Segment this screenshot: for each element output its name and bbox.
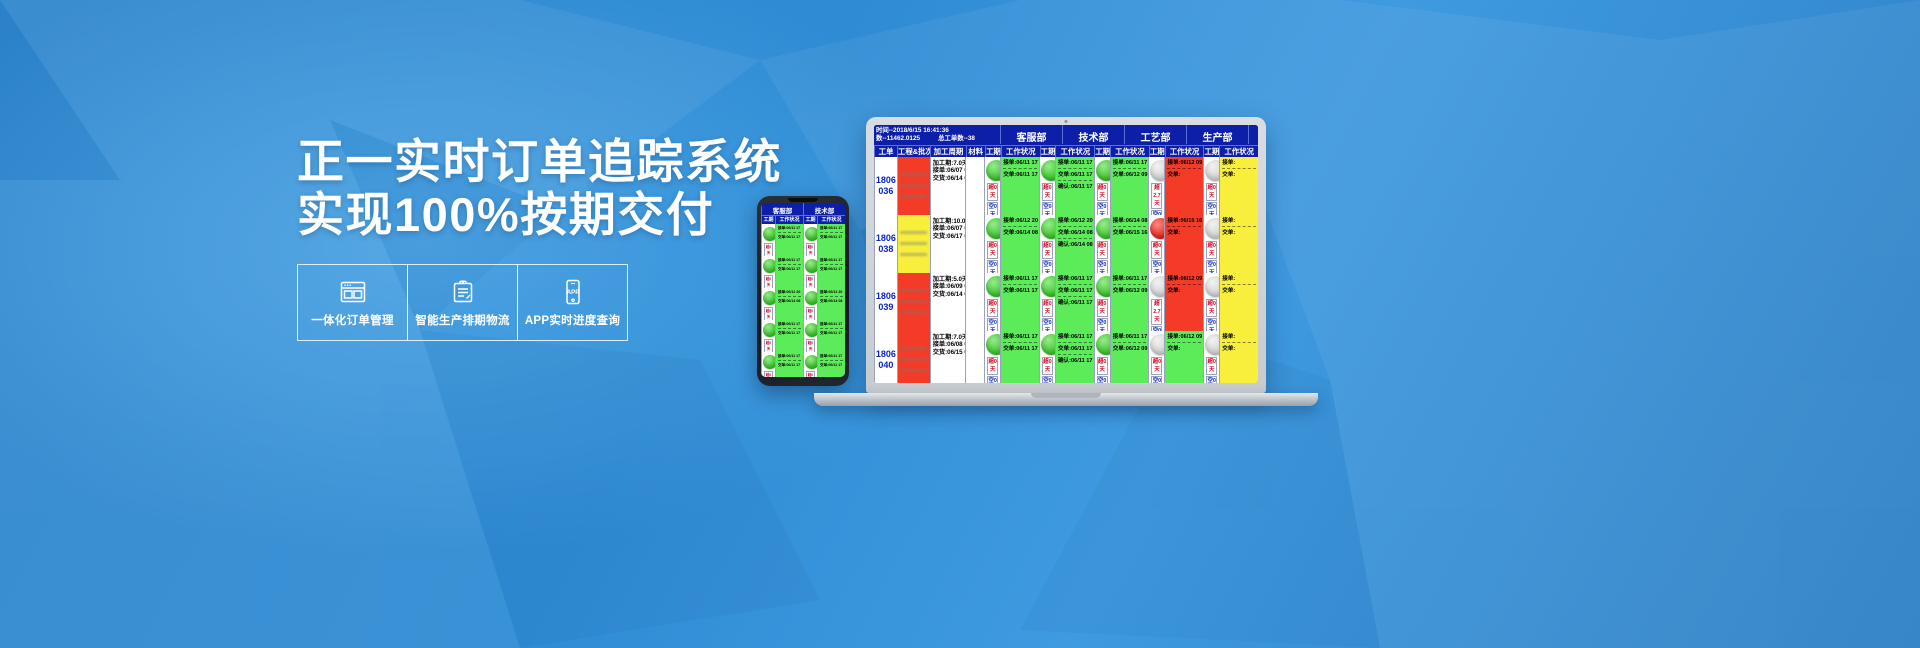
dashboard-rows: 1806036加工期:7.0天接单:06/07 00交货:06/14 00超0天… — [874, 157, 1258, 383]
phone-cell-period-客服部[interactable]: 超0天 — [761, 224, 775, 256]
cell-work-status-工艺部[interactable]: 接单:06/11 17交单:06/12 09 — [1110, 331, 1149, 383]
column-header-工艺部-工作状况[interactable]: 工作状况 — [1110, 145, 1149, 157]
cell-period-技术部[interactable]: 超0天空0天 — [1039, 331, 1055, 383]
work-order-suffix: 038 — [878, 244, 893, 255]
work-status-line: 接单:06/11 17 — [1113, 275, 1147, 285]
work-status-line: 交单:06/12 09 — [1113, 171, 1147, 180]
phone-screen[interactable]: 客服部技术部工期工作状况工期工作状况超0天接单:06/11 17交单:06/11… — [761, 203, 845, 377]
work-order-prefix: 1806 — [876, 175, 896, 186]
status-indicator-green[interactable] — [1041, 218, 1055, 239]
phone-table-row[interactable]: 超0天接单:06/11 17交单:06/11 17超0天接单:06/11 17交… — [761, 352, 845, 377]
cell-work-status-跟单部[interactable]: 接单:交单: — [1219, 331, 1258, 383]
redacted-text-line — [900, 369, 927, 372]
column-header-加工周期[interactable]: 加工周期 — [930, 145, 965, 157]
work-status-line: 交单:06/14 08 — [1003, 229, 1037, 238]
phone-cell-period-客服部[interactable]: 超0天 — [761, 288, 775, 320]
webcam-icon — [1065, 120, 1068, 123]
work-status-line: 接单:06/11 17 — [1003, 159, 1037, 169]
redacted-text-line — [900, 173, 927, 176]
phone-work-status-line: 接单:06/11 17 — [820, 354, 843, 361]
phone-cell-work-status-技术部[interactable]: 接单:06/11 17交单:06/11 17 — [817, 224, 845, 256]
work-status-line: 接单: — [1222, 159, 1256, 169]
phone-cell-period-技术部[interactable]: 超0天 — [803, 224, 817, 256]
work-status-line: 交单: — [1222, 345, 1256, 354]
cycle-line: 接单:06/08 00 — [933, 341, 963, 349]
cell-period-工艺部[interactable]: 超0天空0天 — [1094, 157, 1110, 215]
phone-tag-overdue: 超0天 — [764, 371, 773, 377]
cell-work-status-生产部[interactable]: 接单:06/12 09交单: — [1164, 273, 1203, 331]
tag-overdue: 超0天 — [1151, 357, 1162, 375]
phone-cell-period-客服部[interactable]: 超0天 — [761, 320, 775, 352]
cell-period-技术部[interactable]: 超0天空0天 — [1039, 215, 1055, 273]
tag-idle: 空0天 — [1151, 376, 1162, 383]
laptop-screen[interactable]: 时间--2018/6/15 16:41:36数--11462.0125总工单数-… — [874, 125, 1258, 383]
tag-overdue: 超2.7天 — [1151, 183, 1162, 209]
department-header-row: 客服部技术部工艺部生产部跟单部 — [1000, 125, 1258, 144]
phone-tag-overdue: 超0天 — [806, 371, 815, 377]
redacted-text-line — [900, 300, 927, 303]
cell-project-batch[interactable] — [897, 331, 930, 383]
department-header-生产部: 生产部 — [1186, 125, 1248, 144]
cell-period-生产部[interactable]: 超2.7天空0天 — [1148, 157, 1164, 215]
tag-idle: 空0天 — [987, 376, 998, 383]
laptop-lid: 时间--2018/6/15 16:41:36数--11462.0125总工单数-… — [866, 117, 1266, 393]
phone-work-status-line: 交单:06/11 17 — [778, 331, 801, 337]
cell-work-status-工艺部[interactable]: 接单:06/11 17交单:06/12 09 — [1110, 157, 1149, 215]
cell-material[interactable] — [965, 273, 984, 331]
status-indicator-gray[interactable] — [1205, 276, 1219, 297]
phone-cell-period-客服部[interactable]: 超0天 — [761, 352, 775, 377]
cell-work-order[interactable]: 1806040 — [874, 331, 897, 383]
phone-column-header-技术部-工期[interactable]: 工期 — [803, 215, 817, 224]
cycle-line: 接单:06/09 00 — [933, 283, 963, 291]
phone-work-status-line: 接单:06/11 17 — [820, 322, 843, 329]
work-status-line: 确认:06/11 17 — [1058, 183, 1092, 192]
cell-period-跟单部[interactable]: 超0天空0天 — [1203, 157, 1219, 215]
cell-period-客服部[interactable]: 超0天空0天 — [984, 273, 1000, 331]
work-status-line: 交单:06/11 17 — [1058, 171, 1092, 181]
redacted-text-line — [900, 242, 927, 245]
tag-overdue: 超0天 — [1042, 299, 1053, 317]
work-status-line: 接单:06/11 17 — [1058, 333, 1092, 343]
column-header-材料[interactable]: 材料 — [966, 145, 985, 157]
phone-work-status-line: 接单:06/11 17 — [778, 258, 801, 265]
phone-tag-overdue: 超0天 — [764, 275, 773, 288]
cell-period-客服部[interactable]: 超0天空0天 — [984, 331, 1000, 383]
phone-work-status-line: 接单:06/11 17 — [778, 322, 801, 329]
redacted-text-line — [900, 311, 927, 314]
cell-material[interactable] — [965, 331, 984, 383]
phone-department-header-客服部: 客服部 — [761, 203, 803, 215]
cell-work-status-生产部[interactable]: 接单:06/12 09交单: — [1164, 157, 1203, 215]
phone-dashboard-rows: 超0天接单:06/11 17交单:06/11 17超0天接单:06/11 17交… — [761, 224, 845, 377]
phone-tag-overdue: 超0天 — [764, 307, 773, 320]
phone-notch — [788, 198, 818, 202]
column-header-跟单部-工期[interactable]: 工期 — [1203, 145, 1219, 157]
redacted-text-line — [900, 358, 927, 361]
status-indicator-green[interactable] — [1096, 276, 1110, 297]
order-tracking-dashboard[interactable]: 时间--2018/6/15 16:41:36数--11462.0125总工单数-… — [874, 125, 1258, 383]
tag-idle: 空0天 — [1206, 376, 1217, 383]
laptop-base-notch — [1031, 393, 1101, 398]
work-status-line: 接单:06/12 09 — [1167, 159, 1201, 169]
phone-work-status-line: 交单:06/14 08 — [778, 299, 801, 305]
phone-status-indicator-green[interactable] — [805, 227, 817, 241]
redacted-text-line — [900, 231, 927, 234]
phone-tag-overdue: 超0天 — [806, 307, 815, 320]
work-status-line: 接单:06/12 20 — [1003, 217, 1037, 227]
work-status-line: 接单:06/12 09 — [1167, 275, 1201, 285]
redacted-text-line — [900, 195, 927, 198]
column-header-技术部-工期[interactable]: 工期 — [1040, 145, 1056, 157]
cell-period-生产部[interactable]: 超0天空0天 — [1148, 215, 1164, 273]
work-status-line: 接单:06/11 17 — [1113, 333, 1147, 343]
cycle-line: 交货:06/14 00 — [933, 175, 963, 183]
cell-work-order[interactable]: 1806039 — [874, 273, 897, 331]
status-indicator-gray[interactable] — [1205, 334, 1219, 355]
work-status-line: 交单:06/11 17 — [1003, 171, 1037, 180]
status-indicator-green[interactable] — [1041, 160, 1055, 181]
tag-idle: 空0天 — [1151, 260, 1162, 273]
status-indicator-green[interactable] — [986, 160, 1000, 181]
work-order-suffix: 036 — [878, 186, 893, 197]
tag-overdue: 超0天 — [987, 357, 998, 375]
tag-idle: 空0天 — [1206, 260, 1217, 273]
phone-work-status-line: 交单:06/11 17 — [778, 363, 801, 369]
status-indicator-green[interactable] — [986, 218, 1000, 239]
cell-work-status-技术部[interactable]: 接单:06/11 17交单:06/11 17确认:06/11 17 — [1055, 331, 1094, 383]
phone-column-header-客服部-工作状况[interactable]: 工作状况 — [775, 215, 803, 224]
cell-material[interactable] — [965, 157, 984, 215]
tag-idle: 空0天 — [1097, 260, 1108, 273]
status-indicator-green[interactable] — [1041, 334, 1055, 355]
tag-idle: 空0天 — [987, 260, 998, 273]
phone-work-status-line: 接单:06/11 17 — [778, 226, 801, 233]
work-status-line: 接单:06/12 20 — [1058, 217, 1092, 227]
redacted-text-line — [900, 253, 927, 256]
phone-department-header-row: 客服部技术部 — [761, 203, 845, 215]
cell-processing-cycle[interactable]: 加工期:7.0天接单:06/08 00交货:06/15 00 — [930, 331, 965, 383]
cycle-line: 交货:06/17 00 — [933, 233, 963, 241]
cell-period-工艺部[interactable]: 超0天空0天 — [1094, 331, 1110, 383]
phone-work-status-line: 交单:06/14 08 — [820, 299, 843, 305]
work-status-line: 接单:06/15 16 — [1167, 217, 1201, 227]
cell-project-batch[interactable] — [897, 273, 930, 331]
tag-overdue: 超0天 — [1042, 357, 1053, 375]
cell-work-status-技术部[interactable]: 接单:06/11 17交单:06/11 17确认:06/11 17 — [1055, 273, 1094, 331]
cell-work-status-生产部[interactable]: 接单:06/15 16交单: — [1164, 215, 1203, 273]
tag-overdue: 超0天 — [1097, 357, 1108, 375]
cell-work-status-客服部[interactable]: 接单:06/11 17交单:06/11 17 — [1000, 157, 1039, 215]
phone-cell-work-status-技术部[interactable]: 接单:06/11 17交单:06/11 17 — [817, 320, 845, 352]
redacted-text-line — [900, 289, 927, 292]
phone-table-row[interactable]: 超0天接单:06/11 17交单:06/11 17超0天接单:06/11 17交… — [761, 256, 845, 288]
cell-period-跟单部[interactable]: 超0天空0天 — [1203, 331, 1219, 383]
cell-period-跟单部[interactable]: 超0天空0天 — [1203, 273, 1219, 331]
phone-dashboard[interactable]: 客服部技术部工期工作状况工期工作状况超0天接单:06/11 17交单:06/11… — [761, 203, 845, 377]
tag-overdue: 超0天 — [1206, 183, 1217, 201]
work-order-prefix: 1806 — [876, 233, 896, 244]
cell-work-status-工艺部[interactable]: 接单:06/11 17交单:06/12 09 — [1110, 273, 1149, 331]
status-indicator-gray[interactable] — [1150, 276, 1164, 297]
cell-work-order[interactable]: 1806038 — [874, 215, 897, 273]
phone-cell-work-status-技术部[interactable]: 接单:06/11 17交单:06/11 17 — [817, 352, 845, 377]
tag-overdue: 超0天 — [1097, 241, 1108, 259]
work-status-line: 交单:06/14 08 — [1058, 229, 1092, 239]
work-order-prefix: 1806 — [876, 349, 896, 360]
phone-mockup: 客服部技术部工期工作状况工期工作状况超0天接单:06/11 17交单:06/11… — [757, 196, 849, 386]
tag-idle: 空0天 — [1042, 260, 1053, 273]
status-indicator-green[interactable] — [986, 334, 1000, 355]
tag-idle: 空0天 — [1206, 318, 1217, 331]
cell-work-status-客服部[interactable]: 接单:06/11 17交单:06/11 17 — [1000, 273, 1039, 331]
work-status-line: 接单:06/11 17 — [1113, 159, 1147, 169]
laptop-base — [814, 393, 1318, 406]
table-row[interactable]: 1806039加工期:5.0天接单:06/09 00交货:06/14 00超0天… — [874, 273, 1258, 331]
work-status-line: 交单:06/12 09 — [1113, 287, 1147, 296]
cell-period-生产部[interactable]: 超2.7天空0天 — [1148, 273, 1164, 331]
phone-tag-overdue: 超0天 — [764, 339, 773, 352]
dashboard-total-label: 总工单数--38 — [938, 135, 975, 143]
device-mockups: 客服部技术部工期工作状况工期工作状况超0天接单:06/11 17交单:06/11… — [0, 0, 1920, 648]
department-header-工艺部: 工艺部 — [1124, 125, 1186, 144]
phone-status-indicator-green[interactable] — [763, 291, 775, 305]
phone-status-indicator-green[interactable] — [763, 323, 775, 337]
work-status-line: 交单:06/12 09 — [1113, 345, 1147, 354]
department-header-客服部: 客服部 — [1000, 125, 1062, 144]
cell-work-status-技术部[interactable]: 接单:06/12 20交单:06/14 08确认:06/14 08 — [1055, 215, 1094, 273]
phone-cell-work-status-客服部[interactable]: 接单:06/11 17交单:06/11 17 — [775, 352, 803, 377]
phone-work-status-line: 接单:06/11 17 — [820, 258, 843, 265]
cell-work-status-跟单部[interactable]: 接单:交单: — [1219, 157, 1258, 215]
phone-work-status-line: 接单:06/11 17 — [820, 226, 843, 233]
status-indicator-gray[interactable] — [1205, 218, 1219, 239]
cell-material[interactable] — [965, 215, 984, 273]
work-status-line: 交单: — [1222, 287, 1256, 296]
cell-period-技术部[interactable]: 超0天空0天 — [1039, 273, 1055, 331]
work-status-line: 交单: — [1167, 171, 1201, 180]
work-status-line: 接单:06/14 08 — [1113, 217, 1147, 227]
phone-cell-period-客服部[interactable]: 超0天 — [761, 256, 775, 288]
work-status-line: 接单:06/12 09 — [1167, 333, 1201, 343]
tag-overdue: 超0天 — [987, 241, 998, 259]
tag-idle: 空0天 — [1097, 376, 1108, 383]
status-indicator-gray[interactable] — [1205, 160, 1219, 181]
column-header-工单[interactable]: 工单 — [874, 145, 897, 157]
phone-cell-period-技术部[interactable]: 超0天 — [803, 352, 817, 377]
phone-tag-overdue: 超0天 — [764, 243, 773, 256]
phone-status-indicator-green[interactable] — [763, 355, 775, 369]
tag-overdue: 超0天 — [1097, 299, 1108, 317]
phone-table-row[interactable]: 超0天接单:06/11 17交单:06/11 17超0天接单:06/11 17交… — [761, 320, 845, 352]
cell-period-技术部[interactable]: 超0天空0天 — [1039, 157, 1055, 215]
phone-status-indicator-green[interactable] — [763, 259, 775, 273]
cell-work-status-技术部[interactable]: 接单:06/11 17交单:06/11 17确认:06/11 17 — [1055, 157, 1094, 215]
redacted-text-line — [900, 184, 927, 187]
work-status-line: 接单:06/11 17 — [1003, 333, 1037, 343]
tag-idle: 空0天 — [987, 318, 998, 331]
tag-idle: 空0天 — [1042, 202, 1053, 215]
column-header-生产部-工期[interactable]: 工期 — [1149, 145, 1165, 157]
dashboard-count-label: 数--11462.0125 — [876, 135, 920, 143]
work-order-suffix: 039 — [878, 302, 893, 313]
status-indicator-gray[interactable] — [1150, 160, 1164, 181]
phone-work-status-line: 交单:06/11 17 — [820, 363, 843, 369]
cell-processing-cycle[interactable]: 加工期:7.0天接单:06/07 00交货:06/14 00 — [930, 157, 965, 215]
work-order-suffix: 040 — [878, 360, 893, 371]
phone-cell-work-status-客服部[interactable]: 接单:06/11 17交单:06/11 17 — [775, 224, 803, 256]
cell-period-生产部[interactable]: 超0天空0天 — [1148, 331, 1164, 383]
phone-tag-overdue: 超0天 — [806, 339, 815, 352]
phone-body: 客服部技术部工期工作状况工期工作状况超0天接单:06/11 17交单:06/11… — [757, 196, 849, 386]
phone-work-status-line: 交单:06/11 17 — [778, 267, 801, 273]
tag-overdue: 超0天 — [987, 183, 998, 201]
cell-project-batch[interactable] — [897, 215, 930, 273]
phone-column-header-客服部-工期[interactable]: 工期 — [761, 215, 775, 224]
dashboard-header: 时间--2018/6/15 16:41:36数--11462.0125总工单数-… — [874, 125, 1258, 145]
cell-processing-cycle[interactable]: 加工期:10.0天接单:06/07 00交货:06/17 00 — [930, 215, 965, 273]
column-header-技术部-工作状况[interactable]: 工作状况 — [1055, 145, 1094, 157]
status-indicator-green[interactable] — [1096, 334, 1110, 355]
status-indicator-gray[interactable] — [1150, 334, 1164, 355]
phone-cell-period-技术部[interactable]: 超0天 — [803, 288, 817, 320]
column-header-跟单部-工作状况[interactable]: 工作状况 — [1219, 145, 1258, 157]
cell-work-order[interactable]: 1806036 — [874, 157, 897, 215]
cycle-line: 交货:06/14 00 — [933, 291, 963, 299]
cell-project-batch[interactable] — [897, 157, 930, 215]
column-header-工程&批次[interactable]: 工程&批次 — [897, 145, 930, 157]
phone-work-status-line: 交单:06/11 17 — [820, 235, 843, 241]
phone-department-header-技术部: 技术部 — [803, 203, 845, 215]
phone-cell-work-status-客服部[interactable]: 接单:06/11 17交单:06/11 17 — [775, 320, 803, 352]
phone-tag-overdue: 超0天 — [806, 275, 815, 288]
tag-overdue: 超0天 — [1151, 241, 1162, 259]
tag-overdue: 超0天 — [1206, 241, 1217, 259]
work-status-line: 交单: — [1167, 229, 1201, 238]
work-status-line: 交单: — [1222, 229, 1256, 238]
cell-period-客服部[interactable]: 超0天空0天 — [984, 215, 1000, 273]
phone-column-header-row: 工期工作状况工期工作状况 — [761, 215, 845, 224]
column-header-row: 工单工程&批次加工周期材料工期工作状况工期工作状况工期工作状况工期工作状况工期工… — [874, 145, 1258, 157]
work-status-line: 确认:06/14 08 — [1058, 241, 1092, 250]
phone-work-status-line: 接单:06/11 17 — [778, 354, 801, 361]
cell-work-status-客服部[interactable]: 接单:06/12 20交单:06/14 08 — [1000, 215, 1039, 273]
department-header-技术部: 技术部 — [1062, 125, 1124, 144]
work-status-line: 接单: — [1222, 217, 1256, 227]
cycle-line: 交货:06/15 00 — [933, 349, 963, 357]
status-indicator-green[interactable] — [986, 276, 1000, 297]
status-indicator-green[interactable] — [1096, 218, 1110, 239]
cell-work-status-工艺部[interactable]: 接单:06/14 08交单:06/15 16 — [1110, 215, 1149, 273]
work-status-line: 接单:06/11 17 — [1058, 275, 1092, 285]
phone-work-status-line: 交单:06/11 17 — [778, 235, 801, 241]
cell-period-工艺部[interactable]: 超0天空0天 — [1094, 273, 1110, 331]
cell-processing-cycle[interactable]: 加工期:5.0天接单:06/09 00交货:06/14 00 — [930, 273, 965, 331]
tag-idle: 空0天 — [1206, 202, 1217, 215]
work-status-line: 确认:06/11 17 — [1058, 299, 1092, 308]
phone-table-row[interactable]: 超0天接单:06/12 20交单:06/14 08超0天接单:06/12 20交… — [761, 288, 845, 320]
work-status-line: 交单: — [1167, 287, 1201, 296]
phone-work-status-line: 接单:06/12 20 — [778, 290, 801, 297]
work-status-line: 接单: — [1222, 333, 1256, 343]
work-status-line: 确认:06/11 17 — [1058, 357, 1092, 366]
phone-tag-overdue: 超0天 — [806, 243, 815, 256]
column-header-客服部-工作状况[interactable]: 工作状况 — [1001, 145, 1040, 157]
redacted-text-line — [900, 347, 927, 350]
phone-work-status-line: 接单:06/12 20 — [820, 290, 843, 297]
work-status-line: 接单: — [1222, 275, 1256, 285]
work-status-line: 交单:06/15 16 — [1113, 229, 1147, 238]
cell-work-status-客服部[interactable]: 接单:06/11 17交单:06/11 17 — [1000, 331, 1039, 383]
phone-cell-work-status-客服部[interactable]: 接单:06/11 17交单:06/11 17 — [775, 256, 803, 288]
phone-status-indicator-green[interactable] — [805, 355, 817, 369]
tag-idle: 空0天 — [1042, 318, 1053, 331]
phone-cell-period-技术部[interactable]: 超0天 — [803, 320, 817, 352]
cell-period-工艺部[interactable]: 超0天空0天 — [1094, 215, 1110, 273]
column-header-生产部-工作状况[interactable]: 工作状况 — [1165, 145, 1204, 157]
phone-status-indicator-green[interactable] — [763, 227, 775, 241]
work-status-line: 接单:06/11 17 — [1003, 275, 1037, 285]
phone-status-indicator-green[interactable] — [805, 291, 817, 305]
table-row[interactable]: 1806036加工期:7.0天接单:06/07 00交货:06/14 00超0天… — [874, 157, 1258, 215]
tag-overdue: 超0天 — [1042, 241, 1053, 259]
department-header-跟单部: 跟单部 — [1248, 125, 1258, 144]
tag-idle: 空0天 — [1097, 318, 1108, 331]
tag-overdue: 超0天 — [1206, 299, 1217, 317]
tag-overdue: 超2.7天 — [1151, 299, 1162, 325]
laptop-mockup: 时间--2018/6/15 16:41:36数--11462.0125总工单数-… — [866, 117, 1318, 406]
cell-period-客服部[interactable]: 超0天空0天 — [984, 157, 1000, 215]
cell-work-status-跟单部[interactable]: 接单:交单: — [1219, 273, 1258, 331]
status-indicator-green[interactable] — [1041, 276, 1055, 297]
work-status-line: 交单: — [1222, 171, 1256, 180]
cycle-line: 接单:06/07 00 — [933, 225, 963, 233]
work-status-line: 接单:06/11 17 — [1058, 159, 1092, 169]
phone-status-indicator-green[interactable] — [805, 323, 817, 337]
phone-cell-work-status-客服部[interactable]: 接单:06/12 20交单:06/14 08 — [775, 288, 803, 320]
phone-cell-work-status-技术部[interactable]: 接单:06/11 17交单:06/11 17 — [817, 256, 845, 288]
phone-work-status-line: 交单:06/11 17 — [820, 267, 843, 273]
cell-work-status-跟单部[interactable]: 接单:交单: — [1219, 215, 1258, 273]
status-indicator-green[interactable] — [1096, 160, 1110, 181]
work-status-line: 交单: — [1167, 345, 1201, 354]
tag-idle: 空0天 — [987, 202, 998, 215]
phone-work-status-line: 交单:06/11 17 — [820, 331, 843, 337]
phone-cell-work-status-技术部[interactable]: 接单:06/12 20交单:06/14 08 — [817, 288, 845, 320]
work-status-line: 交单:06/11 17 — [1003, 287, 1037, 296]
cell-period-跟单部[interactable]: 超0天空0天 — [1203, 215, 1219, 273]
phone-status-indicator-green[interactable] — [805, 259, 817, 273]
phone-column-header-技术部-工作状况[interactable]: 工作状况 — [817, 215, 845, 224]
phone-cell-period-技术部[interactable]: 超0天 — [803, 256, 817, 288]
tag-overdue: 超0天 — [1097, 183, 1108, 201]
tag-idle: 空0天 — [1097, 202, 1108, 215]
phone-table-row[interactable]: 超0天接单:06/11 17交单:06/11 17超0天接单:06/11 17交… — [761, 224, 845, 256]
cell-work-status-生产部[interactable]: 接单:06/12 09交单: — [1164, 331, 1203, 383]
work-order-prefix: 1806 — [876, 291, 896, 302]
column-header-工艺部-工期[interactable]: 工期 — [1094, 145, 1110, 157]
work-status-line: 交单:06/11 17 — [1003, 345, 1037, 354]
cycle-line: 接单:06/07 00 — [933, 167, 963, 175]
status-indicator-red[interactable] — [1150, 218, 1164, 239]
tag-idle: 空0天 — [1042, 376, 1053, 383]
tag-overdue: 超0天 — [1206, 357, 1217, 375]
tag-overdue: 超0天 — [987, 299, 998, 317]
table-row[interactable]: 1806040加工期:7.0天接单:06/08 00交货:06/15 00超0天… — [874, 331, 1258, 383]
tag-overdue: 超0天 — [1042, 183, 1053, 201]
table-row[interactable]: 1806038加工期:10.0天接单:06/07 00交货:06/17 00超0… — [874, 215, 1258, 273]
column-header-客服部-工期[interactable]: 工期 — [985, 145, 1001, 157]
